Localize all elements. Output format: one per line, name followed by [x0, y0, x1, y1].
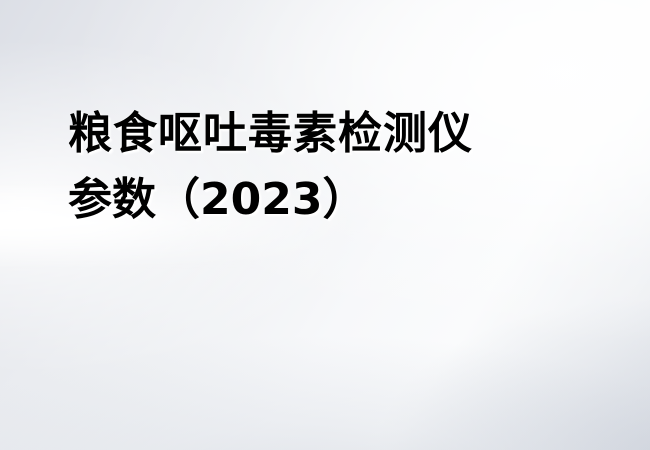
background-wireframe-artwork: [0, 0, 650, 450]
title-line-primary: 粮食呕吐毒素检测仪: [68, 112, 608, 156]
title-banner: 粮食呕吐毒素检测仪 参数（2023）: [0, 0, 650, 450]
title-line-secondary: 参数（2023）: [68, 178, 608, 222]
banner-title: 粮食呕吐毒素检测仪 参数（2023）: [68, 112, 608, 222]
